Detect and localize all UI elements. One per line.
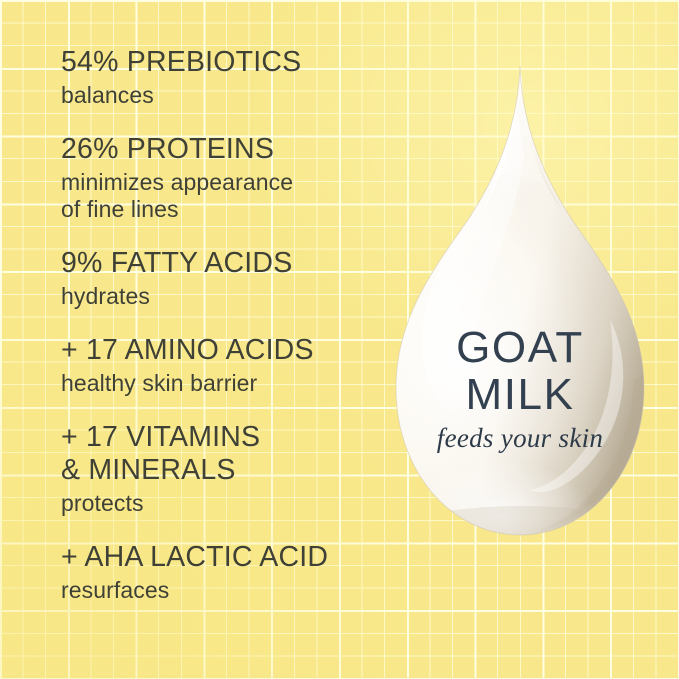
ingredient-headline: 26% PROTEINS xyxy=(61,133,391,166)
ingredient-benefit: healthy skin barrier xyxy=(61,370,391,397)
ingredient-benefit: minimizes appearance of fine lines xyxy=(61,169,391,223)
ingredient-item-fatty-acids: 9% FATTY ACIDS hydrates xyxy=(61,247,391,310)
ingredient-benefit: resurfaces xyxy=(61,577,391,604)
droplet-bottom-contact-shade xyxy=(396,506,648,553)
droplet-graphic: GOAT MILK feeds your skin xyxy=(372,58,668,553)
ingredient-item-amino-acids: + 17 AMINO ACIDS healthy skin barrier xyxy=(61,334,391,397)
ingredient-item-prebiotics: 54% PREBIOTICS balances xyxy=(61,46,391,109)
ingredient-headline: + 17 VITAMINS & MINERALS xyxy=(61,421,391,487)
ingredient-benefit: balances xyxy=(61,82,391,109)
ingredient-benefit: protects xyxy=(61,490,391,517)
ingredient-benefit: hydrates xyxy=(61,283,391,310)
ingredient-item-proteins: 26% PROTEINS minimizes appearance of fin… xyxy=(61,133,391,223)
ingredient-item-aha-lactic-acid: + AHA LACTIC ACID resurfaces xyxy=(61,541,391,604)
ingredient-item-vitamins-minerals: + 17 VITAMINS & MINERALS protects xyxy=(61,421,391,517)
ingredient-headline: + AHA LACTIC ACID xyxy=(61,541,391,574)
ingredient-headline: + 17 AMINO ACIDS xyxy=(61,334,391,367)
ingredient-list: 54% PREBIOTICS balances 26% PROTEINS min… xyxy=(61,46,391,604)
infographic-canvas: 54% PREBIOTICS balances 26% PROTEINS min… xyxy=(0,0,679,679)
ingredient-headline: 54% PREBIOTICS xyxy=(61,46,391,79)
milk-droplet-icon xyxy=(372,58,668,553)
ingredient-headline: 9% FATTY ACIDS xyxy=(61,247,391,280)
